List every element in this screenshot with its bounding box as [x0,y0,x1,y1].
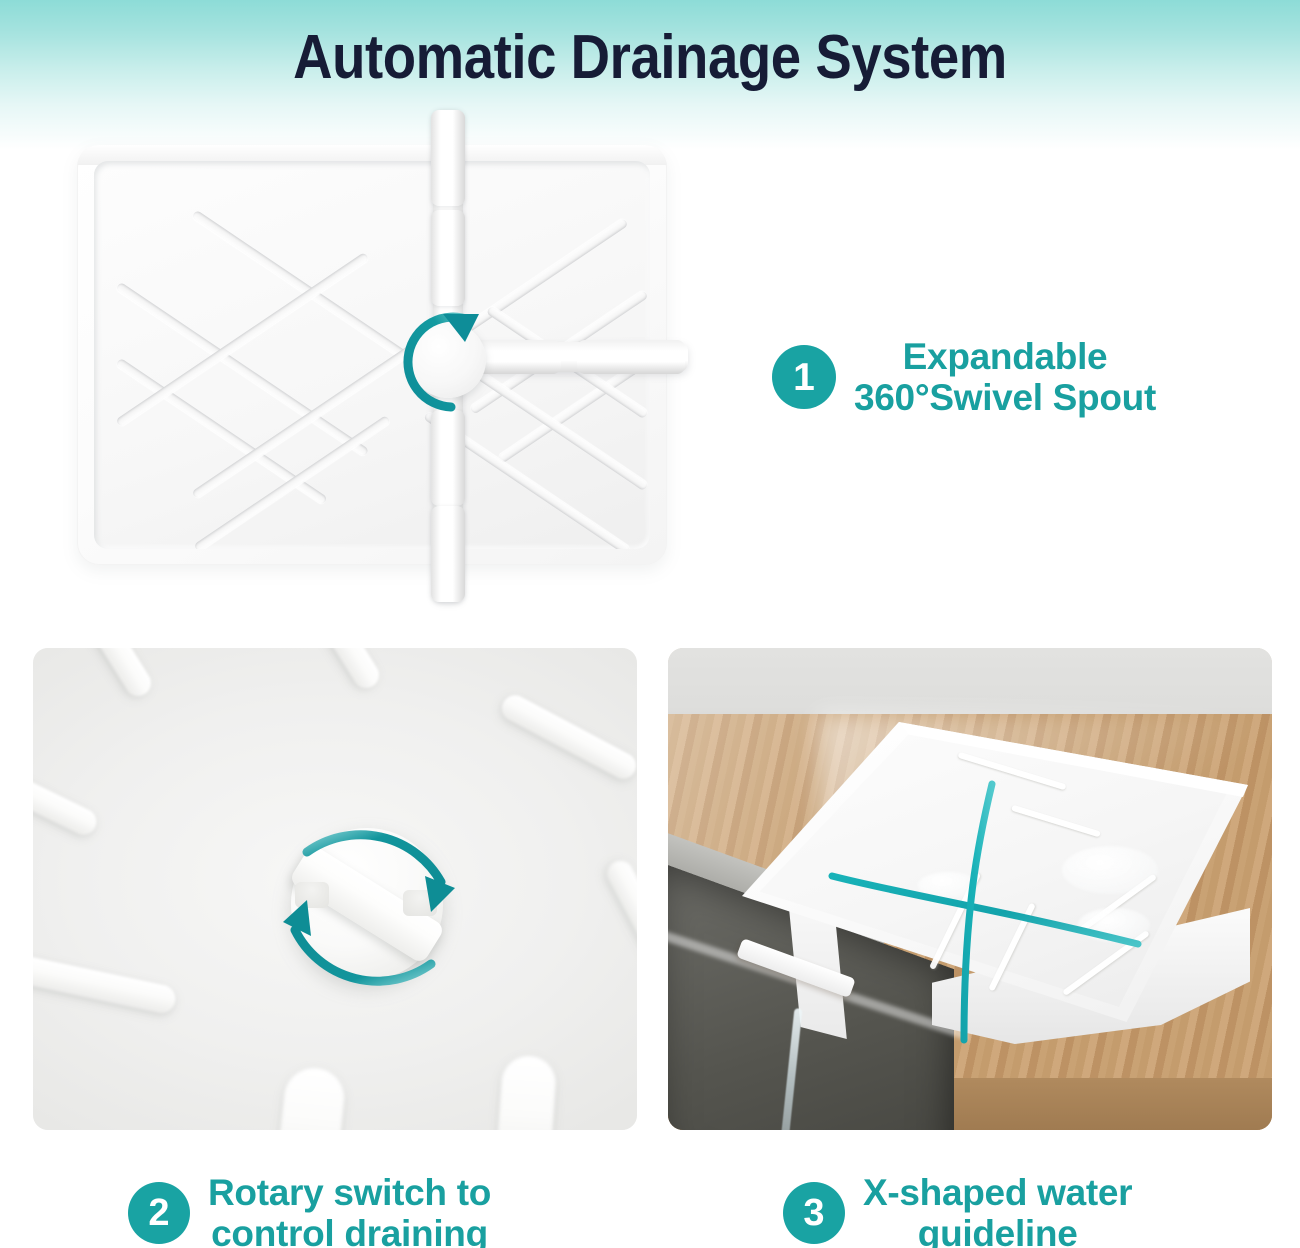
callout-2-text: Rotary switch to control draining [208,1172,491,1248]
callout-1: 1 Expandable 360°Swivel Spout [772,336,1156,419]
callout-2-line2: control draining [208,1213,491,1248]
spout-segment [577,340,685,374]
callout-2: 2 Rotary switch to control draining [128,1172,491,1248]
page-title: Automatic Drainage System [78,22,1222,93]
callout-1-text: Expandable 360°Swivel Spout [854,336,1156,419]
callout-2-badge: 2 [128,1182,190,1244]
callout-1-badge: 1 [772,345,836,409]
callout-1-line2: 360°Swivel Spout [854,377,1156,418]
x-shaped-water-guideline-icon [742,722,1248,1094]
callout-3-line2: guideline [863,1213,1132,1248]
spout-segment [431,506,465,602]
infographic-page: Automatic Drainage System [0,0,1300,1248]
tray-in-scene [742,722,1248,1094]
clockwise-rotation-arrows-icon [255,796,483,1018]
panel-rotary-switch [33,648,637,1130]
spout-segment [431,410,465,506]
callout-3-line1: X-shaped water [863,1172,1132,1213]
callout-3-badge: 3 [783,1182,845,1244]
rotate-arrow-icon [393,298,513,420]
callout-3-text: X-shaped water guideline [863,1172,1132,1248]
spout-segment [431,210,465,306]
spout-segment [431,110,465,206]
callout-1-line1: Expandable [854,336,1156,377]
callout-2-line1: Rotary switch to [208,1172,491,1213]
hero-product-image [55,110,715,630]
callout-3: 3 X-shaped water guideline [783,1172,1132,1248]
panel-countertop-scene [668,648,1272,1130]
